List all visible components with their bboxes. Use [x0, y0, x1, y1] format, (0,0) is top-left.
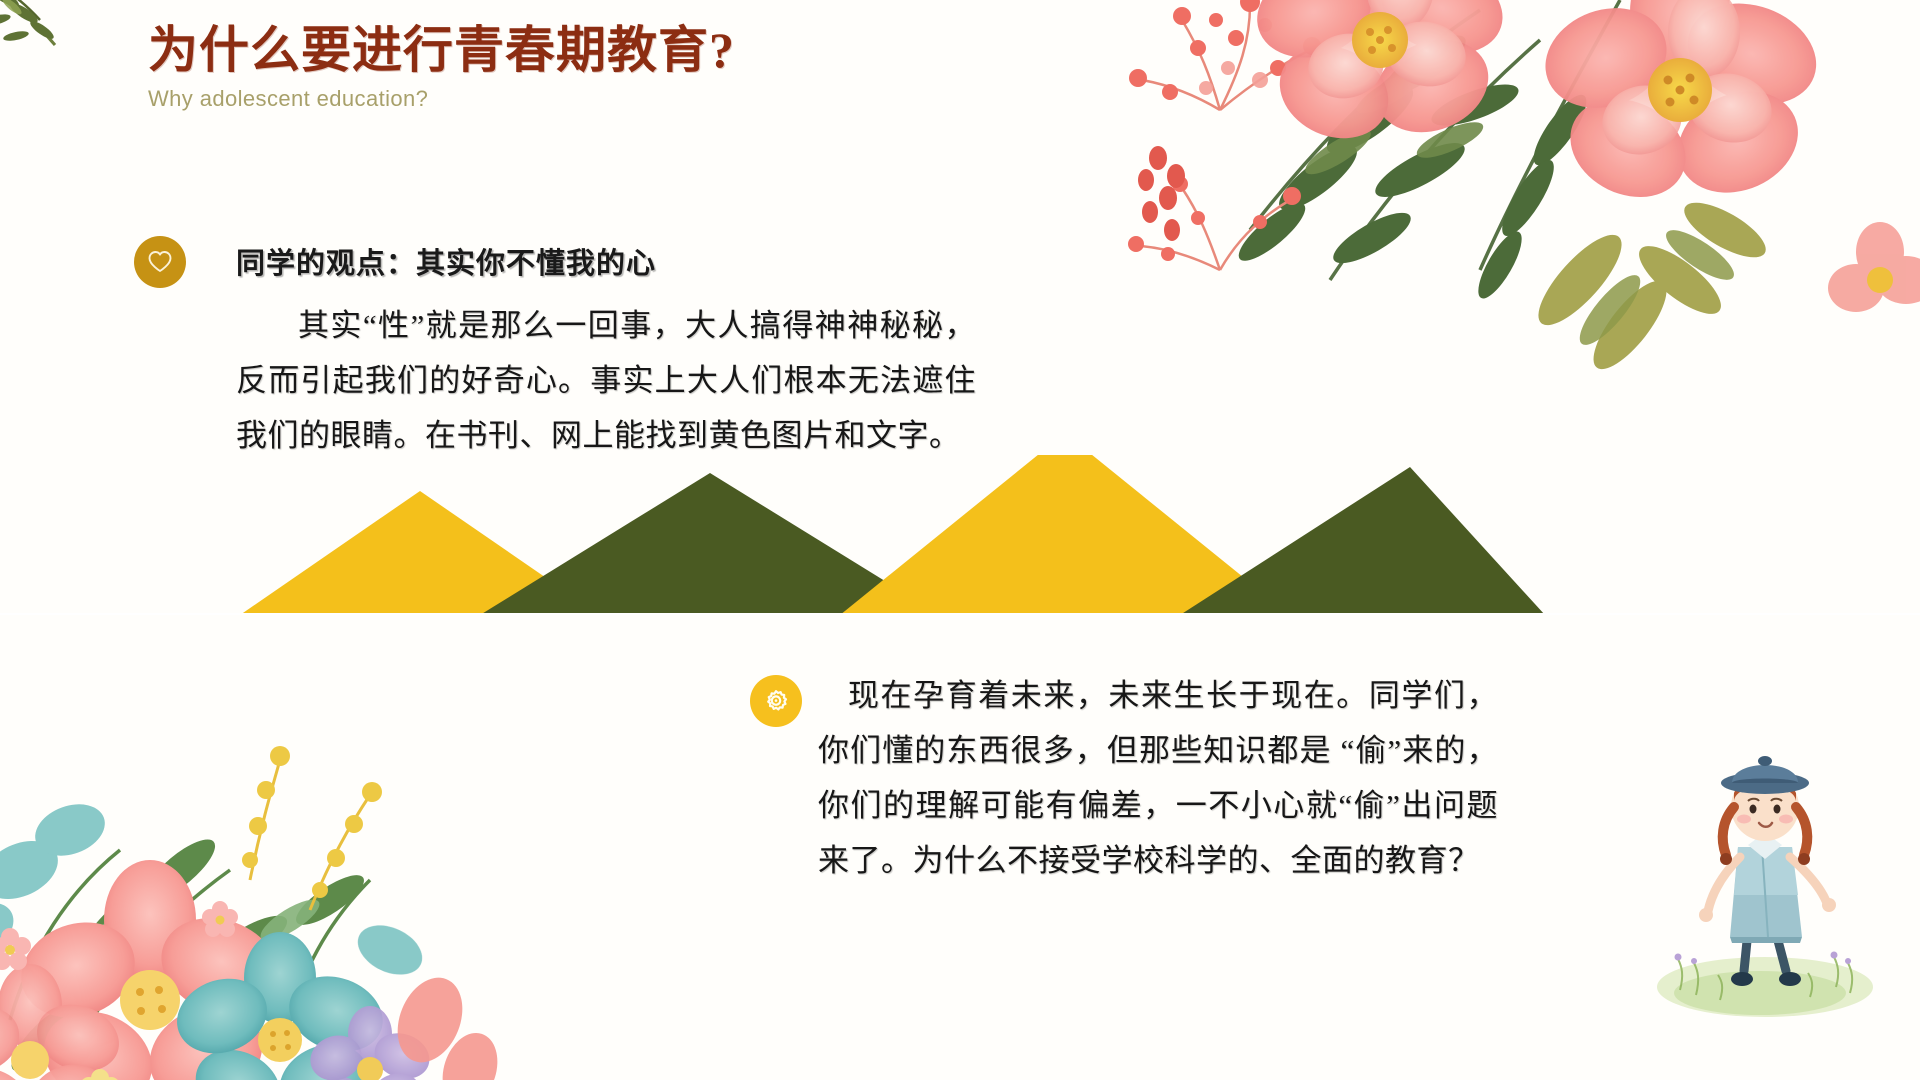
page-subtitle: Why adolescent education?	[148, 86, 735, 112]
block-1-body: 其实“性”就是那么一回事，大人搞得神神秘秘，反而引起我们的好奇心。事实上大人们根…	[236, 298, 976, 463]
gear-badge[interactable]	[750, 675, 802, 727]
title-block: 为什么要进行青春期教育? Why adolescent education?	[148, 22, 735, 112]
watercolor-floral-top-right-icon	[920, 0, 1920, 450]
watercolor-floral-bottom-left-icon	[0, 620, 570, 1080]
leaf-sprig-icon	[0, 0, 150, 110]
page-title: 为什么要进行青春期教育?	[148, 22, 735, 80]
gear-icon	[762, 687, 790, 715]
block-1-heading: 同学的观点：其实你不懂我的心	[236, 240, 656, 282]
block-2-body: 现在孕育着未来，未来生长于现在。同学们，你们懂的东西很多，但那些知识都是 “偷”…	[818, 668, 1498, 888]
mountain-shapes	[0, 455, 1920, 615]
slide-canvas: 为什么要进行青春期教育? Why adolescent education? 同…	[0, 0, 1920, 1080]
mountain-green-right	[1180, 467, 1545, 615]
heart-badge[interactable]	[134, 236, 186, 288]
heart-icon	[145, 247, 175, 277]
girl-character-icon	[1650, 735, 1880, 1025]
